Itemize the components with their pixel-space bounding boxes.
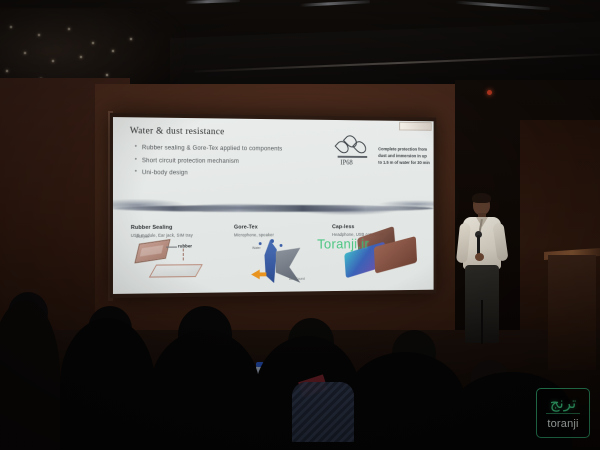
bullet-text: Short circuit protection mechanism [142,157,239,165]
slide-bullet-list: • Rubber sealing & Gore-Tex applied to c… [135,144,355,182]
projection-screen: Water & dust resistance • Rubber sealing… [110,113,436,298]
audience-silhouette [150,330,260,450]
graphic-note-water: Water [252,246,260,250]
ip-rating-block: IP68 Complete protection from dust and i… [332,133,428,155]
feature-column-cap-less: Cap-less Headphone, USB connector [332,224,428,236]
column-title: Gore-Tex [234,224,324,230]
logo-latin-text: toranji [547,419,578,430]
column-title: Rubber Sealing [131,225,224,231]
sim-tray-graphic [149,264,203,277]
bullet-text: Uni-body design [142,169,188,176]
presenter-leg-gap [481,300,483,344]
microphone-body [477,235,480,255]
slide-content: Water & dust resistance • Rubber sealing… [113,117,434,294]
gore-tex-graphic: Water Air / Sound [251,238,310,287]
audience-silhouette [345,352,465,450]
feature-column-gore-tex: Gore-Tex Microphone, speaker Water Air /… [234,224,324,237]
membrane-graphic [264,240,276,283]
arrow-tail [259,272,267,276]
ip-code: IP68 [340,159,352,167]
audience-silhouette [60,318,155,450]
toranji-logo: ترنج toranji [536,388,590,438]
presenter-hair [472,193,491,203]
list-item: • Uni-body design [135,169,355,177]
callout-leader-line [166,247,177,248]
bullet-marker-icon: • [135,169,137,175]
podium [548,255,596,370]
column-title: Cap-less [332,224,428,230]
audience-patterned-shirt [292,382,354,442]
callout-leader-line-vertical [183,249,184,261]
bullet-text: Rubber sealing & Gore-Tex applied to com… [142,144,282,152]
presentation-photo: Water & dust resistance • Rubber sealing… [0,0,600,450]
indicator-light [487,90,492,95]
presenter [455,195,515,370]
usb-module-graphic [134,239,170,263]
bullet-marker-icon: • [135,144,137,150]
presenter-hand [475,253,484,261]
graphic-note-air: Air / Sound [289,277,305,282]
column-note: USB port [136,235,150,239]
logo-persian-text: ترنج [550,396,576,411]
divider [338,156,368,158]
rubber-callout-label: rubber [178,244,192,249]
bullet-marker-icon: • [135,157,137,163]
feature-columns: Rubber Sealing USB module, Ear jack, SIM… [113,224,434,294]
slide-title: Water & dust resistance [130,126,225,137]
water-drop-icon [338,134,375,156]
list-item: • Short circuit protection mechanism [135,157,355,165]
logo-divider [546,413,580,414]
feature-column-rubber-sealing: Rubber Sealing USB module, Ear jack, SIM… [131,225,224,238]
slide-watermark: Toranji.ir [317,236,369,252]
slide-top-marker [399,122,432,131]
column-subtitle: Microphone, speaker [234,232,324,237]
ip-description: Complete protection from dust and immers… [378,146,431,166]
list-item: • Rubber sealing & Gore-Tex applied to c… [135,144,355,153]
